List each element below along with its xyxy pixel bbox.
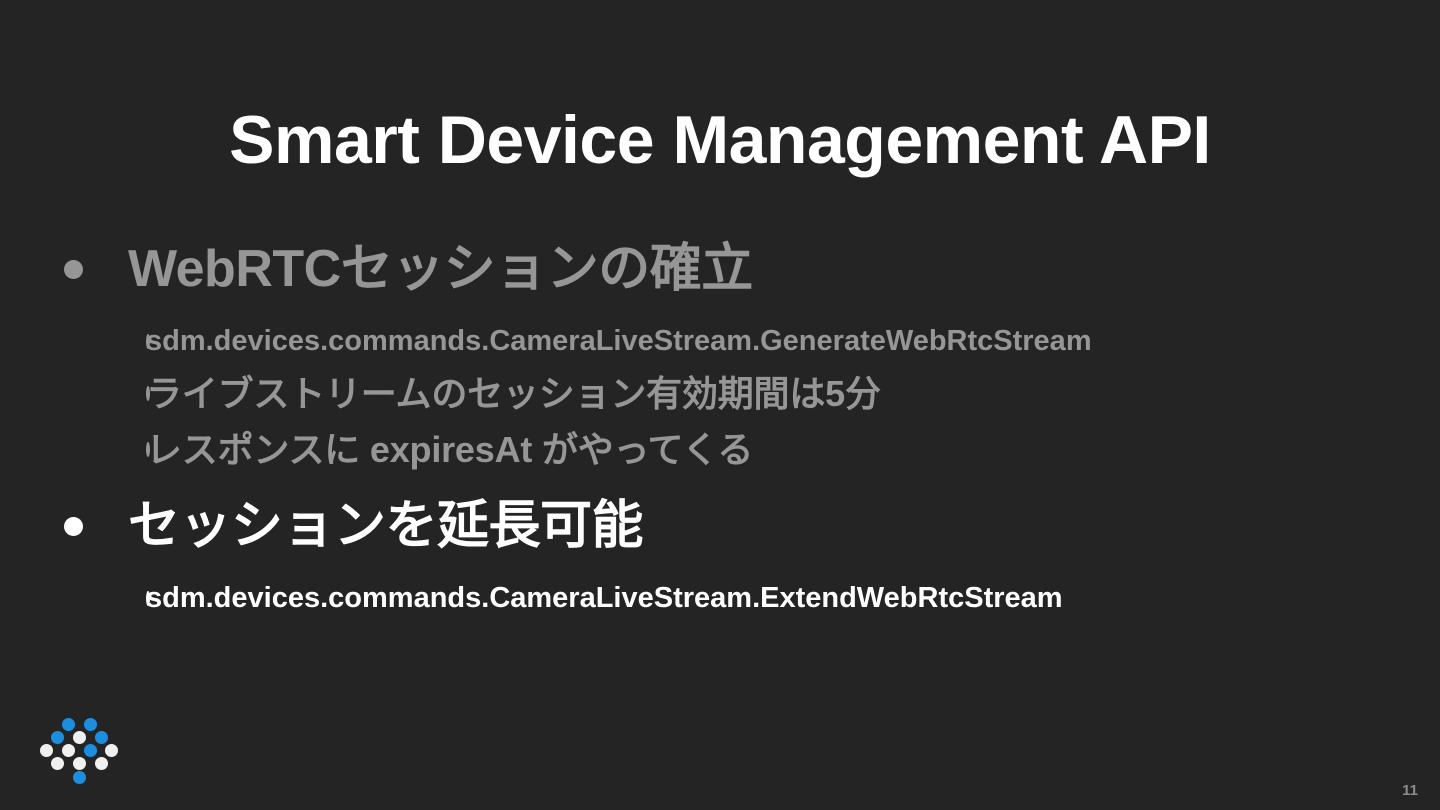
- logo-dot: [40, 744, 53, 757]
- list-item: WebRTCセッションの確立: [52, 238, 1392, 301]
- logo-dot: [105, 744, 118, 757]
- diamond-dot-lattice-logo: [38, 712, 116, 788]
- bullet-hollow-circle-icon: [52, 442, 146, 457]
- list-item-label: sdm.devices.commands.CameraLiveStream.Ge…: [146, 323, 1092, 360]
- bullet-list: WebRTCセッションの確立 sdm.devices.commands.Came…: [52, 238, 1392, 617]
- page-number: 11: [1402, 783, 1418, 798]
- bullet-hollow-circle-icon: [52, 591, 146, 606]
- bullet-filled-circle-icon: [52, 260, 128, 279]
- logo-dot: [62, 718, 75, 731]
- logo-dot: [84, 718, 97, 731]
- bullet-hollow-circle-icon: [52, 386, 146, 401]
- logo-dot: [73, 731, 86, 744]
- logo-dot: [73, 771, 86, 784]
- logo-dot: [51, 757, 64, 770]
- list-item: sdm.devices.commands.CameraLiveStream.Ge…: [52, 323, 1392, 360]
- slide-canvas: Smart Device Management API WebRTCセッションの…: [0, 0, 1440, 810]
- list-item: レスポンスに expiresAt がやってくる: [52, 427, 1392, 473]
- logo-dot: [73, 757, 86, 770]
- logo-dot: [95, 731, 108, 744]
- logo-dot: [62, 744, 75, 757]
- list-item-label: セッションを延長可能: [128, 495, 643, 558]
- bullet-hollow-circle-icon: [52, 334, 146, 349]
- page-title: Smart Device Management API: [0, 104, 1440, 177]
- list-item-label: レスポンスに expiresAt がやってくる: [146, 427, 753, 473]
- list-item-label: sdm.devices.commands.CameraLiveStream.Ex…: [146, 580, 1063, 617]
- list-item: セッションを延長可能: [52, 495, 1392, 558]
- list-item: sdm.devices.commands.CameraLiveStream.Ex…: [52, 580, 1392, 617]
- list-item-label: ライブストリームのセッション有効期間は5分: [146, 371, 881, 417]
- logo-dot: [51, 731, 64, 744]
- list-item: ライブストリームのセッション有効期間は5分: [52, 371, 1392, 417]
- bullet-filled-circle-icon: [52, 517, 128, 536]
- logo-dot: [84, 744, 97, 757]
- logo-dot: [95, 757, 108, 770]
- list-item-label: WebRTCセッションの確立: [128, 238, 753, 301]
